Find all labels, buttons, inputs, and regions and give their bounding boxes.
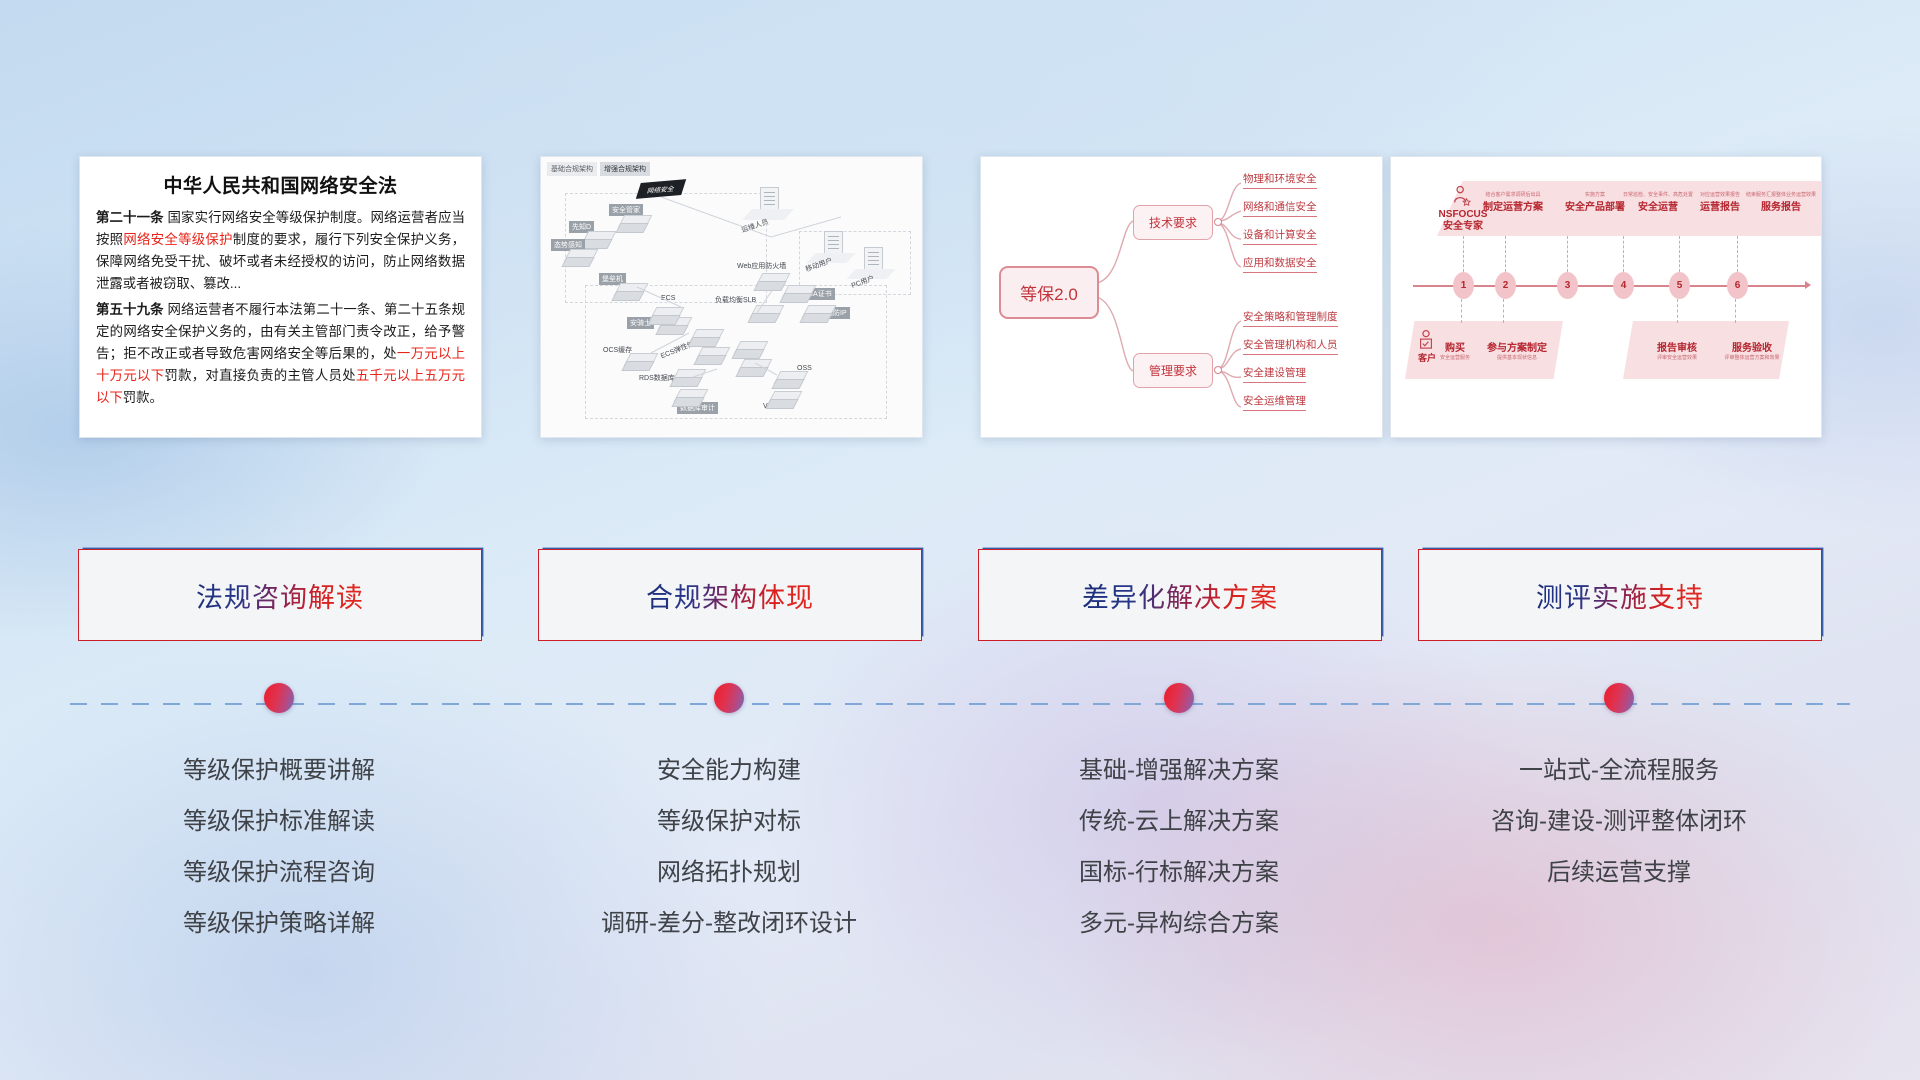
list-item: 国标-行标解决方案 [978, 847, 1380, 898]
law-article-59: 第五十九条 网络运营者不履行本法第二十一条、第二十五条规定的网络安全保护义务的，… [96, 299, 465, 408]
connector-6-up [1737, 236, 1738, 272]
feature-list-1: 等级保护概要讲解 等级保护标准解读 等级保护流程咨询 等级保护策略详解 [78, 745, 480, 949]
list-item: 网络拓扑规划 [538, 847, 920, 898]
nsfocus-bottom-step-4: 服务验收 评审整体运营方案和效果 [1709, 339, 1795, 361]
list-item: 等级保护对标 [538, 796, 920, 847]
mindmap-leaf-org-personnel: 安全管理机构和人员 [1243, 337, 1338, 355]
card-compliance-architecture: 基础合规架构 增强合规架构 网络安全 安全管家 先知D 态势感知 堡垒机 安骑士… [540, 156, 923, 438]
list-item: 调研-差分-整改闭环设计 [538, 898, 920, 949]
mindmap-leaf-policy-system: 安全策略和管理制度 [1243, 309, 1338, 327]
heading-box-compliance-architecture[interactable]: 合规架构体现 [538, 549, 922, 641]
list-item: 传统-云上解决方案 [978, 796, 1380, 847]
bottom-step-4-title: 服务验收 [1709, 339, 1795, 354]
architecture-connectors [541, 157, 922, 437]
nsfocus-node-6[interactable]: 6 [1727, 272, 1748, 299]
heading-label-2: 合规架构体现 [646, 576, 814, 615]
timeline-dot-4[interactable] [1604, 683, 1634, 713]
mindmap-leaf-device-compute: 设备和计算安全 [1243, 227, 1317, 245]
heading-box-differentiated-solutions[interactable]: 差异化解决方案 [978, 549, 1382, 641]
mindmap-branch-technical: 技术要求 [1133, 205, 1213, 240]
list-item: 后续运营支撑 [1418, 847, 1820, 898]
connector-1-down [1461, 299, 1462, 323]
bottom-step-3-sub: 评审安全运营效果 [1639, 354, 1715, 361]
bottom-step-2-sub: 提供基本现状信息 [1475, 354, 1559, 361]
connector-6-down [1735, 299, 1736, 323]
article-21-highlight: 网络安全等级保护 [123, 232, 232, 247]
mindmap-leaf-physical-env: 物理和环境安全 [1243, 171, 1317, 189]
list-item: 多元-异构综合方案 [978, 898, 1380, 949]
list-item: 等级保护流程咨询 [78, 847, 480, 898]
feature-list-2: 安全能力构建 等级保护对标 网络拓扑规划 调研-差分-整改闭环设计 [538, 745, 920, 949]
mindmap-leaf-app-data: 应用和数据安全 [1243, 255, 1317, 273]
bottom-step-4-sub: 评审整体运营方案和效果 [1709, 354, 1795, 361]
list-item: 等级保护概要讲解 [78, 745, 480, 796]
list-item: 基础-增强解决方案 [978, 745, 1380, 796]
nsfocus-axis-arrow-icon [1805, 281, 1811, 289]
nsfocus-node-2[interactable]: 2 [1495, 272, 1516, 299]
nsfocus-node-4[interactable]: 4 [1613, 272, 1634, 299]
timeline-dot-3[interactable] [1164, 683, 1194, 713]
list-item: 一站式-全流程服务 [1418, 745, 1820, 796]
top-step-5-sub: 结束服务汇报整体业务运营效果 [1721, 191, 1822, 198]
connector-5-down [1677, 299, 1678, 323]
bottom-step-3-title: 报告审核 [1639, 339, 1715, 354]
mindmap-root: 等保2.0 [999, 266, 1099, 319]
heading-box-assessment-support[interactable]: 测评实施支持 [1418, 549, 1822, 641]
article-59-text-c: 罚款。 [123, 390, 163, 405]
mindmap-collapse-dot-management[interactable] [1214, 366, 1222, 374]
nsfocus-bottom-step-3: 报告审核 评审安全运营效果 [1639, 339, 1715, 361]
list-item: 咨询-建设-测评整体闭环 [1418, 796, 1820, 847]
mindmap-leaf-network-comm: 网络和通信安全 [1243, 199, 1317, 217]
connector-5-up [1679, 236, 1680, 272]
feature-list-4: 一站式-全流程服务 咨询-建设-测评整体闭环 后续运营支撑 [1418, 745, 1820, 898]
connector-1-up [1463, 236, 1464, 272]
timeline-dot-2[interactable] [714, 683, 744, 713]
connector-3-up [1567, 236, 1568, 272]
heading-label-3: 差异化解决方案 [1082, 576, 1278, 615]
heading-box-regulation-consulting[interactable]: 法规咨询解读 [78, 549, 482, 641]
card-mindmap-dengbao: 等保2.0 技术要求 物理和环境安全 网络和通信安全 设备和计算安全 应用和数据… [980, 156, 1383, 438]
nsfocus-top-step-5: 结束服务汇报整体业务运营效果 服务报告 [1721, 191, 1822, 213]
bottom-step-2-title: 参与方案制定 [1475, 339, 1559, 354]
connector-2-up [1505, 236, 1506, 272]
heading-label-4: 测评实施支持 [1536, 576, 1704, 615]
law-title: 中华人民共和国网络安全法 [96, 171, 465, 198]
list-item: 等级保护策略详解 [78, 898, 480, 949]
timeline-dot-1[interactable] [264, 683, 294, 713]
card-nsfocus-service-timeline: NSFOCUS 安全专家 结合客户需求调研后出具 制定运营方案 实施方案 安全产… [1390, 156, 1822, 438]
nsfocus-brand-sub: 安全专家 [1431, 221, 1495, 233]
connector-4-up [1623, 236, 1624, 272]
nsfocus-bottom-step-2: 参与方案制定 提供基本现状信息 [1475, 339, 1559, 361]
timeline-dashed-line [70, 703, 1850, 705]
heading-label-1: 法规咨询解读 [196, 576, 364, 615]
article-21-label: 第二十一条 [96, 210, 164, 225]
nsfocus-node-1[interactable]: 1 [1453, 272, 1474, 299]
top-step-5-title: 服务报告 [1721, 198, 1822, 213]
list-item: 等级保护标准解读 [78, 796, 480, 847]
article-59-label: 第五十九条 [96, 302, 164, 317]
nsfocus-node-3[interactable]: 3 [1557, 272, 1578, 299]
mindmap-branch-management: 管理要求 [1133, 353, 1213, 388]
mindmap-collapse-dot-technical[interactable] [1214, 218, 1222, 226]
law-article-21: 第二十一条 国家实行网络安全等级保护制度。网络运营者应当按照网络安全等级保护制度… [96, 207, 465, 294]
card-cybersecurity-law: 中华人民共和国网络安全法 第二十一条 国家实行网络安全等级保护制度。网络运营者应… [79, 156, 482, 438]
connector-2-down [1503, 299, 1504, 323]
list-item: 安全能力构建 [538, 745, 920, 796]
nsfocus-node-5[interactable]: 5 [1669, 272, 1690, 299]
mindmap-leaf-construction: 安全建设管理 [1243, 365, 1306, 383]
feature-list-3: 基础-增强解决方案 传统-云上解决方案 国标-行标解决方案 多元-异构综合方案 [978, 745, 1380, 949]
article-59-text-b: 罚款，对直接负责的主管人员处 [164, 368, 355, 383]
mindmap-leaf-operations: 安全运维管理 [1243, 393, 1306, 411]
